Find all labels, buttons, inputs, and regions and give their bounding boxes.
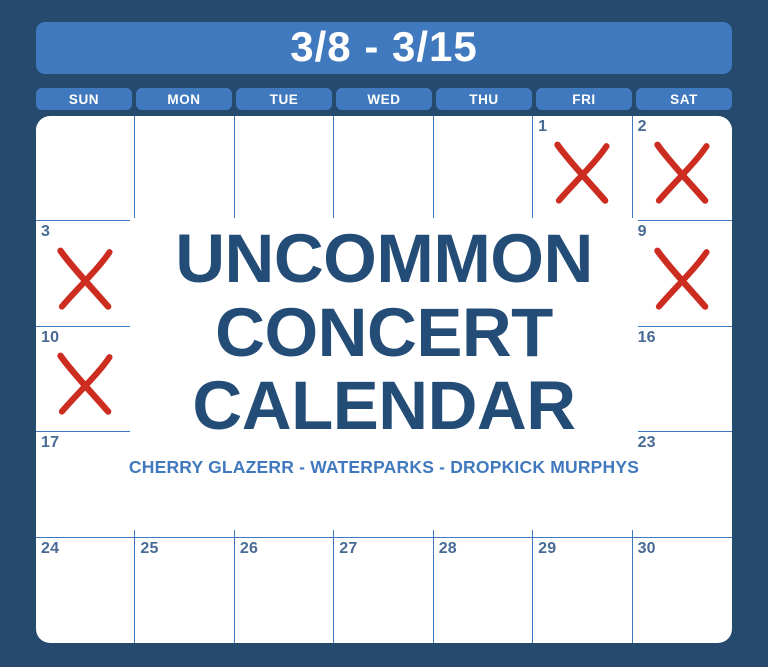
calendar-empty-cell[interactable]: [235, 116, 334, 221]
weekday-label: MON: [167, 92, 200, 107]
weekday-header-row: SUNMONTUEWEDTHUFRISAT: [36, 88, 732, 110]
x-mark-icon: [49, 244, 121, 312]
calendar-day-cell[interactable]: 17: [36, 432, 135, 537]
calendar-day-cell[interactable]: 28: [434, 538, 533, 643]
weekday-header-wed: WED: [336, 88, 432, 110]
calendar-day-cell[interactable]: 9: [633, 221, 732, 326]
day-number: 26: [240, 540, 258, 558]
day-number: 1: [538, 118, 547, 136]
weekday-header-sat: SAT: [636, 88, 732, 110]
x-mark-icon: [49, 349, 121, 417]
calendar-day-cell[interactable]: 25: [135, 538, 234, 643]
calendar-day-cell[interactable]: 3: [36, 221, 135, 326]
day-number: 27: [339, 540, 357, 558]
calendar-empty-cell[interactable]: [434, 116, 533, 221]
calendar-day-cell[interactable]: 16: [633, 327, 732, 432]
calendar-day-cell[interactable]: 26: [235, 538, 334, 643]
weekday-header-thu: THU: [436, 88, 532, 110]
x-mark-icon: [646, 138, 718, 206]
day-number: 9: [638, 223, 647, 241]
calendar-day-cell[interactable]: 30: [633, 538, 732, 643]
poster-title-line-2: CONCERT: [215, 300, 553, 366]
weekday-header-sun: SUN: [36, 88, 132, 110]
calendar-day-cell[interactable]: 1: [533, 116, 632, 221]
date-range-bar: 3/8 - 3/15: [36, 22, 732, 74]
day-number: 17: [41, 434, 59, 452]
day-number: 16: [638, 329, 656, 347]
weekday-label: FRI: [572, 92, 596, 107]
x-mark-icon: [546, 138, 618, 206]
weekday-label: THU: [469, 92, 499, 107]
weekday-header-mon: MON: [136, 88, 232, 110]
day-number: 29: [538, 540, 556, 558]
day-number: 2: [638, 118, 647, 136]
weekday-header-tue: TUE: [236, 88, 332, 110]
day-number: 28: [439, 540, 457, 558]
poster-title-line-3: CALENDAR: [192, 373, 575, 439]
calendar-day-cell[interactable]: 29: [533, 538, 632, 643]
poster-title-line-1: UNCOMMON: [175, 226, 593, 292]
poster-subtitle: CHERRY GLAZERR - WATERPARKS - DROPKICK M…: [129, 457, 639, 478]
day-number: 30: [638, 540, 656, 558]
day-number: 25: [140, 540, 158, 558]
day-number: 24: [41, 540, 59, 558]
calendar-empty-cell[interactable]: [135, 116, 234, 221]
weekday-header-fri: FRI: [536, 88, 632, 110]
day-number: 23: [638, 434, 656, 452]
calendar-day-cell[interactable]: 2: [633, 116, 732, 221]
calendar-poster: 3/8 - 3/15 SUNMONTUEWEDTHUFRISAT 1 2 3 4…: [0, 0, 768, 667]
weekday-label: SAT: [670, 92, 698, 107]
weekday-label: WED: [367, 92, 400, 107]
day-number: 10: [41, 329, 59, 347]
calendar-empty-cell[interactable]: [36, 116, 135, 221]
calendar-day-cell[interactable]: 27: [334, 538, 433, 643]
calendar-day-cell[interactable]: 10: [36, 327, 135, 432]
day-number: 3: [41, 223, 50, 241]
calendar-day-cell[interactable]: 24: [36, 538, 135, 643]
x-mark-icon: [646, 244, 718, 312]
poster-title-card: UNCOMMON CONCERT CALENDAR CHERRY GLAZERR…: [130, 218, 638, 530]
calendar-day-cell[interactable]: 23: [633, 432, 732, 537]
weekday-label: SUN: [69, 92, 99, 107]
weekday-label: TUE: [270, 92, 299, 107]
calendar-empty-cell[interactable]: [334, 116, 433, 221]
date-range-label: 3/8 - 3/15: [290, 26, 477, 68]
